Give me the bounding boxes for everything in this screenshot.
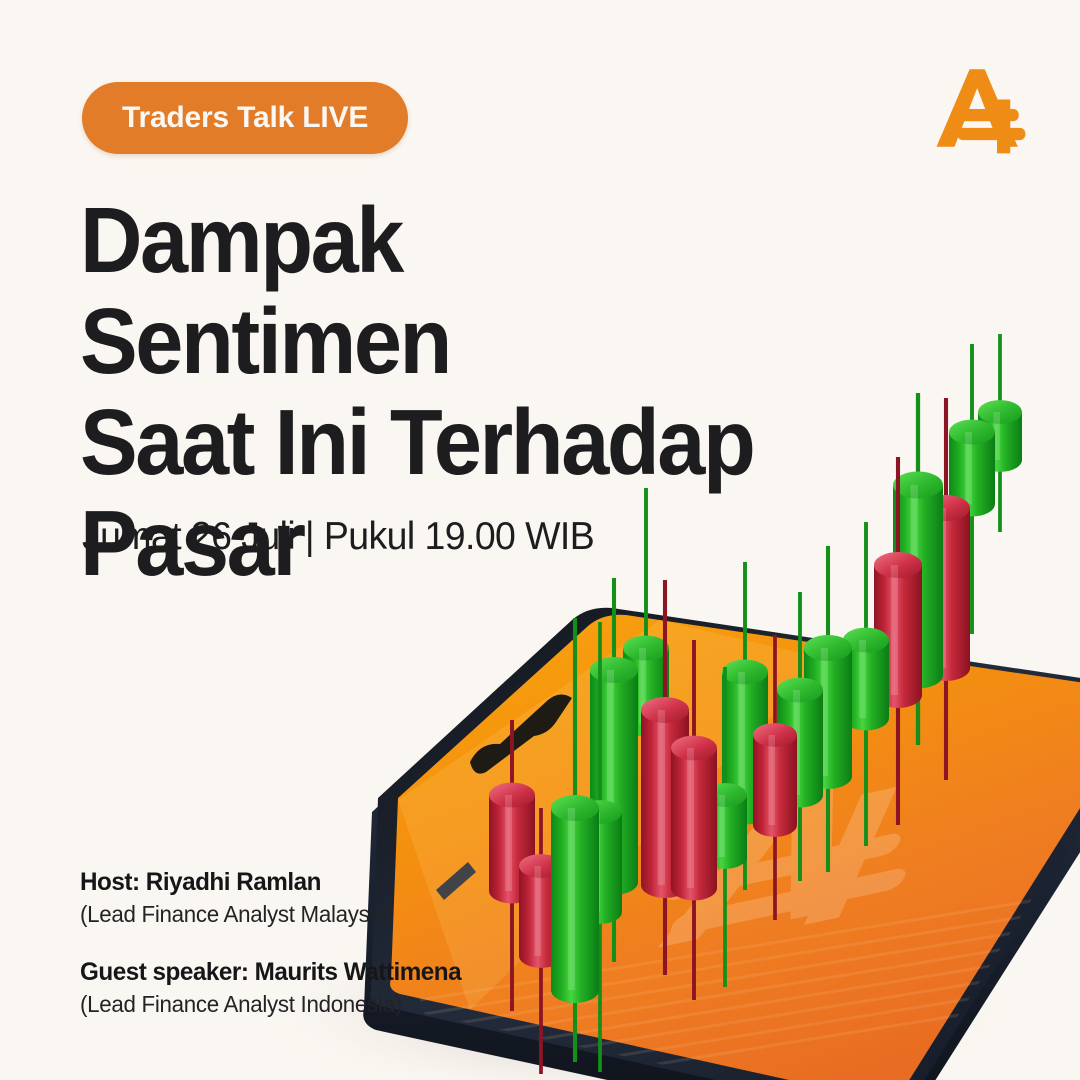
- event-datetime: Jumat 26 Juli | Pukul 19.00 WIB: [82, 515, 594, 559]
- poster-canvas: Traders Talk LIVE Dampak Sentimen Saat I…: [0, 0, 1080, 1080]
- speaker-credits: Host: Riyadhi Ramlan (Lead Finance Analy…: [80, 866, 550, 1020]
- headline-line-1: Dampak Sentimen: [80, 190, 787, 392]
- live-badge[interactable]: Traders Talk LIVE: [82, 82, 408, 154]
- live-badge-label: Traders Talk LIVE: [122, 101, 368, 135]
- brand-logo-a-icon: [928, 56, 1032, 160]
- headline-line-2: Saat Ini Terhadap: [80, 392, 787, 493]
- credit-guest-role: (Lead Finance Analyst Indonesia): [80, 988, 536, 1020]
- credit-host: Host: Riyadhi Ramlan (Lead Finance Analy…: [80, 866, 550, 930]
- credit-host-role: (Lead Finance Analyst Malaysia): [80, 898, 536, 930]
- credit-host-name: Host: Riyadhi Ramlan: [80, 866, 536, 898]
- credit-guest: Guest speaker: Maurits Wattimena (Lead F…: [80, 956, 550, 1020]
- credit-guest-name: Guest speaker: Maurits Wattimena: [80, 956, 536, 988]
